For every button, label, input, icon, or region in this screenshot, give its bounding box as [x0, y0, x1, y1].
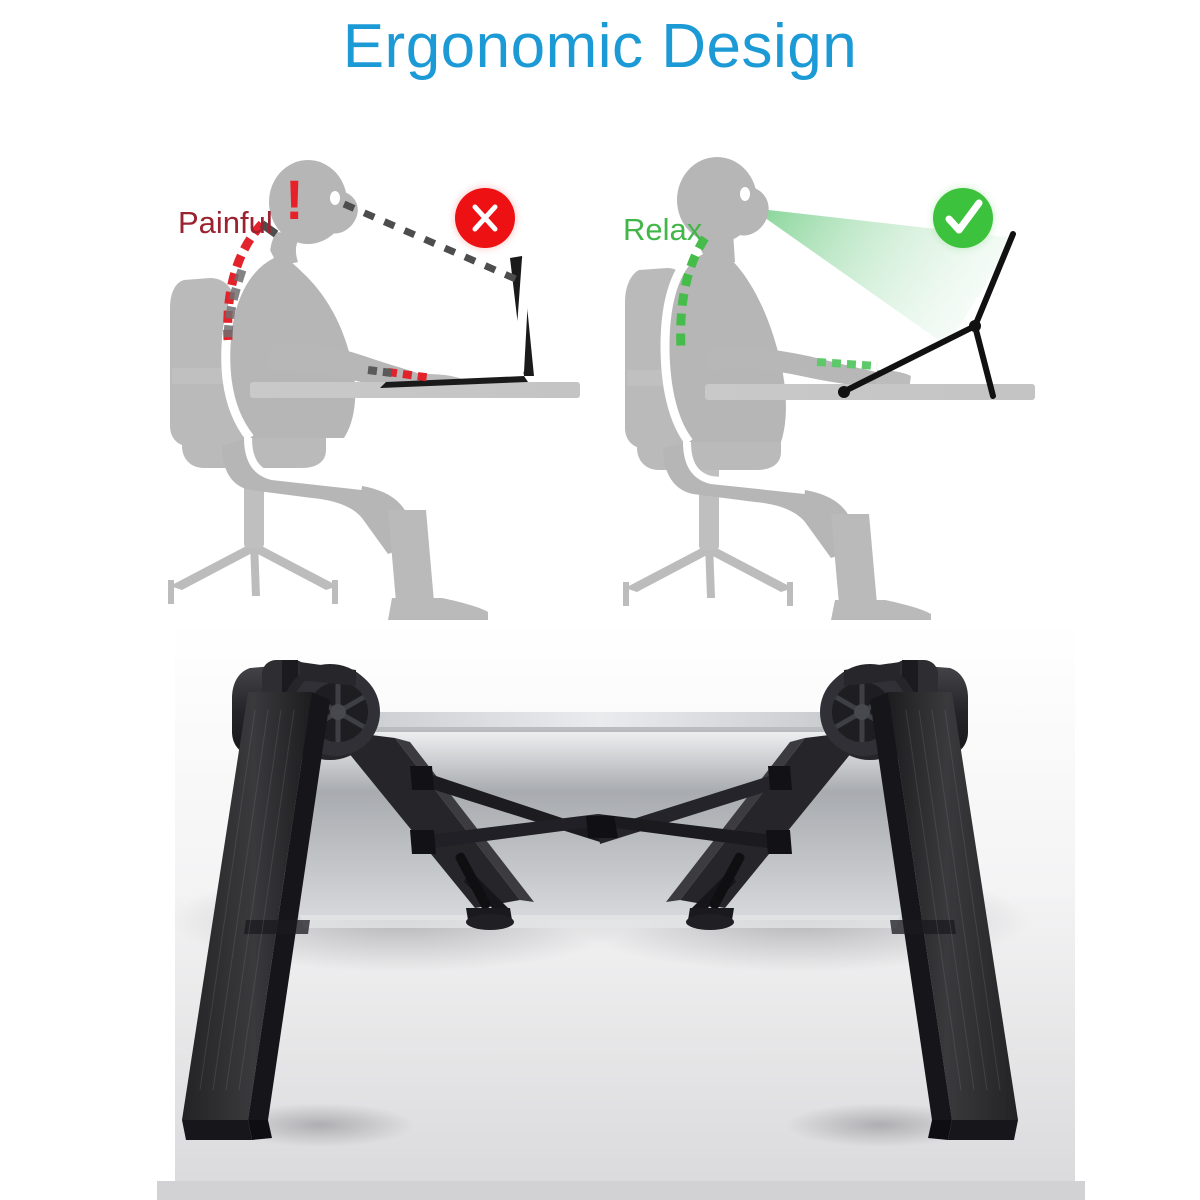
page-title: Ergonomic Design: [0, 14, 1200, 79]
painful-posture-panel: ! Painful: [130, 150, 610, 620]
relax-posture-panel: Relax: [585, 150, 1065, 620]
relax-label: Relax: [623, 212, 702, 248]
ergonomic-comparison: ! Painful: [0, 150, 1200, 620]
x-mark-icon: [455, 188, 515, 248]
check-mark-icon: [933, 188, 993, 248]
painful-label: Painful: [178, 205, 273, 241]
check-mark-badge: [933, 188, 993, 248]
warning-exclamation: !: [285, 172, 304, 228]
desk-surface: [705, 384, 1035, 400]
bottom-floor-band: [157, 1181, 1085, 1200]
x-mark-badge: [455, 188, 515, 248]
product-photo-foldable-laptop-stand: [0, 620, 1200, 1200]
product-illustration: [0, 620, 1200, 1200]
